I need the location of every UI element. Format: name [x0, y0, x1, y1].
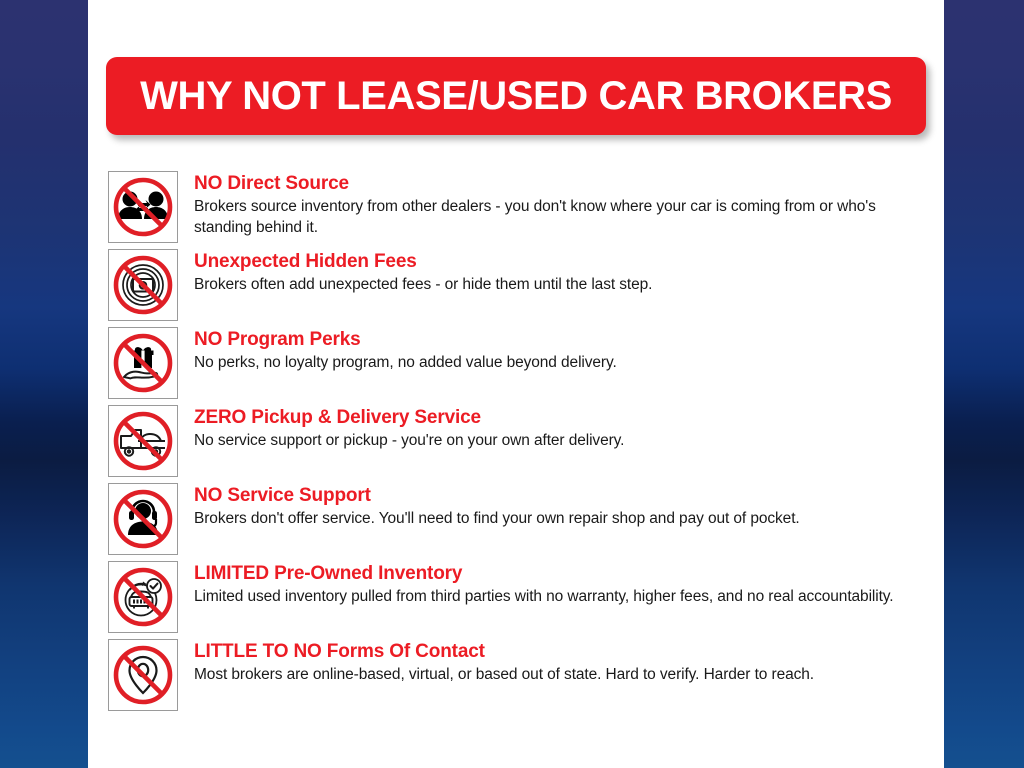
- list-item-description: Limited used inventory pulled from third…: [194, 586, 928, 607]
- list-item: NO Direct Source Brokers source inventor…: [108, 171, 928, 243]
- list-item: LITTLE TO NO Forms Of Contact Most broke…: [108, 639, 928, 711]
- reasons-list: NO Direct Source Brokers source inventor…: [108, 171, 928, 717]
- list-item-description: Brokers don't offer service. You'll need…: [194, 508, 928, 529]
- no-certified-car-icon: [108, 561, 178, 633]
- list-item-heading: ZERO Pickup & Delivery Service: [194, 407, 928, 429]
- list-item-heading: Unexpected Hidden Fees: [194, 251, 928, 273]
- list-item-description: Brokers source inventory from other deal…: [194, 196, 928, 239]
- list-item: NO Program Perks No perks, no loyalty pr…: [108, 327, 928, 399]
- no-map-pin-icon: [108, 639, 178, 711]
- list-item-description: Brokers often add unexpected fees - or h…: [194, 274, 928, 295]
- list-item-heading: NO Service Support: [194, 485, 928, 507]
- list-item: NO Service Support Brokers don't offer s…: [108, 483, 928, 555]
- no-people-exchange-icon: [108, 171, 178, 243]
- list-item-description: Most brokers are online-based, virtual, …: [194, 664, 928, 685]
- list-item-text: LIMITED Pre-Owned Inventory Limited used…: [178, 561, 928, 607]
- list-item: LIMITED Pre-Owned Inventory Limited used…: [108, 561, 928, 633]
- no-tow-truck-icon: [108, 405, 178, 477]
- list-item-text: NO Direct Source Brokers source inventor…: [178, 171, 928, 239]
- title-banner: WHY NOT LEASE/USED CAR BROKERS: [106, 57, 926, 135]
- content-panel: WHY NOT LEASE/USED CAR BROKERS: [88, 0, 944, 768]
- list-item-text: ZERO Pickup & Delivery Service No servic…: [178, 405, 928, 451]
- list-item-heading: LITTLE TO NO Forms Of Contact: [194, 641, 928, 663]
- list-item-text: LITTLE TO NO Forms Of Contact Most broke…: [178, 639, 928, 685]
- list-item-text: NO Program Perks No perks, no loyalty pr…: [178, 327, 928, 373]
- list-item-text: NO Service Support Brokers don't offer s…: [178, 483, 928, 529]
- page-title: WHY NOT LEASE/USED CAR BROKERS: [140, 76, 892, 116]
- no-hidden-money-icon: [108, 249, 178, 321]
- list-item: ZERO Pickup & Delivery Service No servic…: [108, 405, 928, 477]
- list-item-description: No service support or pickup - you're on…: [194, 430, 928, 451]
- list-item-heading: NO Direct Source: [194, 173, 928, 195]
- list-item-text: Unexpected Hidden Fees Brokers often add…: [178, 249, 928, 295]
- list-item-description: No perks, no loyalty program, no added v…: [194, 352, 928, 373]
- list-item: Unexpected Hidden Fees Brokers often add…: [108, 249, 928, 321]
- poster-canvas: WHY NOT LEASE/USED CAR BROKERS: [0, 0, 1024, 768]
- list-item-heading: LIMITED Pre-Owned Inventory: [194, 563, 928, 585]
- no-gift-in-hand-icon: [108, 327, 178, 399]
- list-item-heading: NO Program Perks: [194, 329, 928, 351]
- no-headset-agent-icon: [108, 483, 178, 555]
